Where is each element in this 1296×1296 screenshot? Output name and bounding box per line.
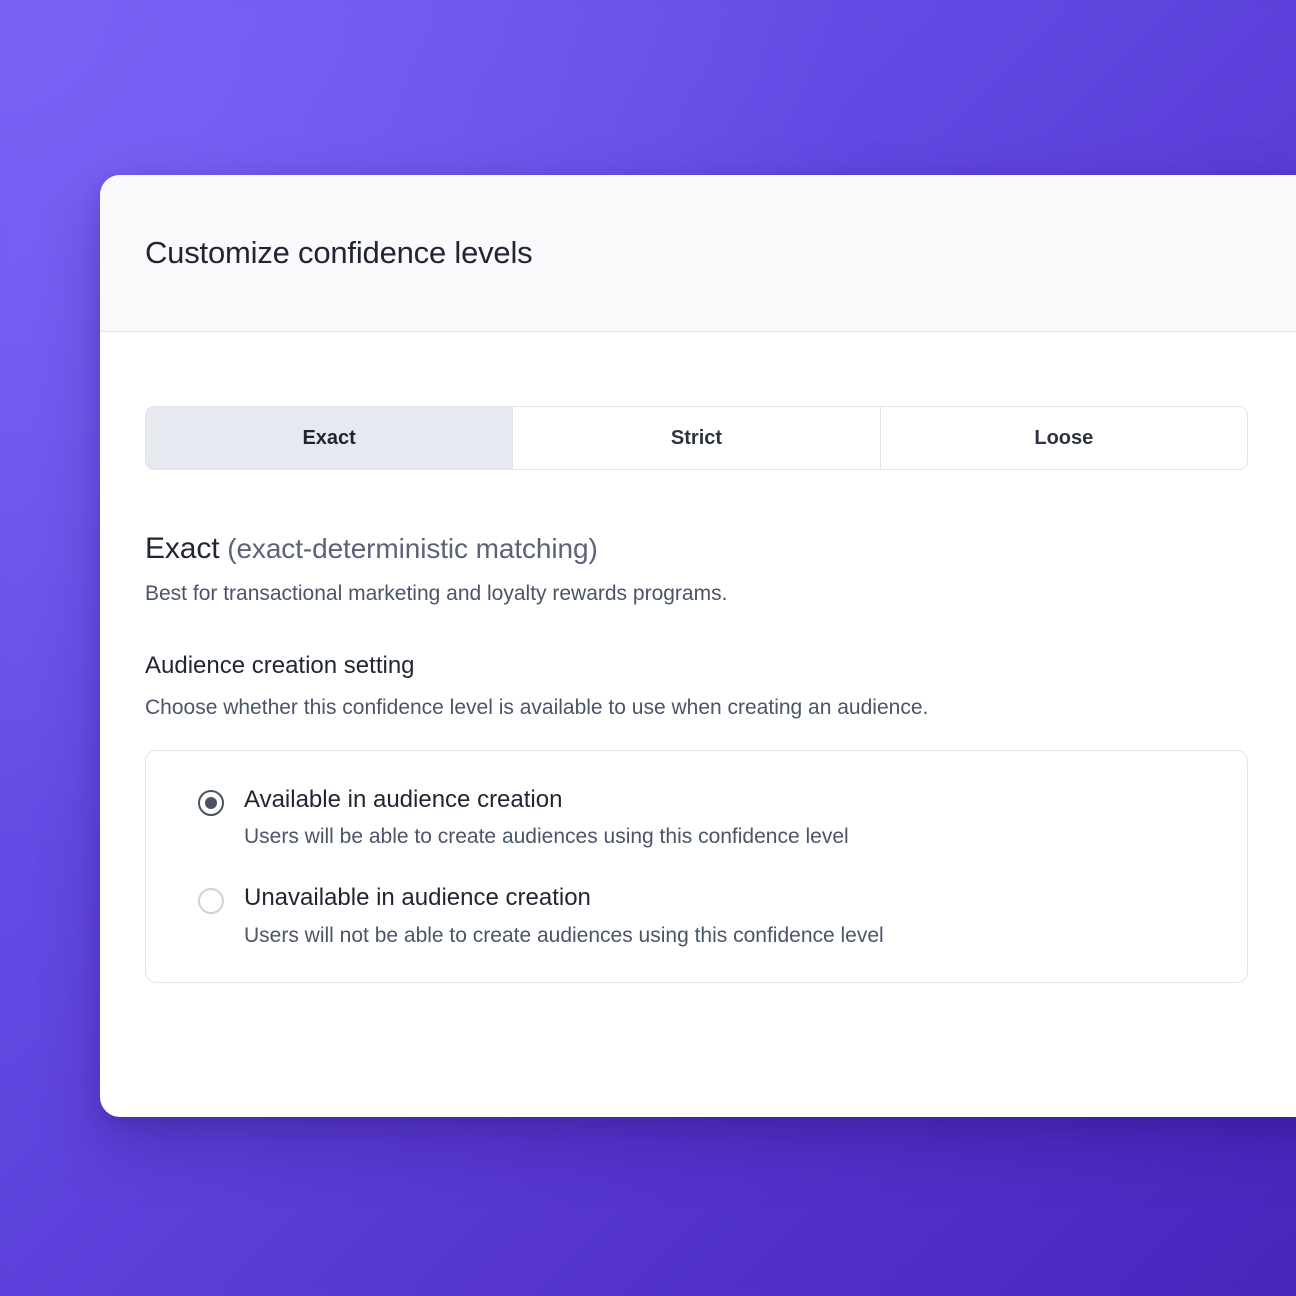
level-heading: Exact (exact-deterministic matching) <box>145 532 1295 566</box>
level-qualifier: (exact-deterministic matching) <box>227 533 597 564</box>
radio-option-unavailable-texts: Unavailable in audience creation Users w… <box>244 885 884 947</box>
level-description: Best for transactional marketing and loy… <box>145 582 1295 606</box>
tab-loose[interactable]: Loose <box>881 407 1247 469</box>
radio-option-available-sublabel: Users will be able to create audiences u… <box>244 825 849 849</box>
audience-creation-radio-group: Available in audience creation Users wil… <box>145 750 1248 983</box>
customize-confidence-levels-dialog: Customize confidence levels Exact Strict… <box>100 175 1296 1117</box>
dialog-body: Exact Strict Loose Exact (exact-determin… <box>100 406 1296 983</box>
radio-option-unavailable-label: Unavailable in audience creation <box>244 885 884 911</box>
tab-exact-label: Exact <box>302 427 355 450</box>
setting-title: Audience creation setting <box>145 652 1295 680</box>
dialog-header: Customize confidence levels <box>100 175 1296 332</box>
tab-exact[interactable]: Exact <box>146 407 513 469</box>
page-title: Customize confidence levels <box>145 235 532 271</box>
radio-option-available-label: Available in audience creation <box>244 787 849 813</box>
tab-strict[interactable]: Strict <box>513 407 880 469</box>
radio-option-available-texts: Available in audience creation Users wil… <box>244 787 849 849</box>
radio-option-unavailable-sublabel: Users will not be able to create audienc… <box>244 924 884 948</box>
radio-option-unavailable[interactable]: Unavailable in audience creation Users w… <box>146 885 1247 947</box>
radio-option-available[interactable]: Available in audience creation Users wil… <box>146 787 1247 849</box>
level-name: Exact <box>145 532 220 565</box>
level-summary: Exact (exact-deterministic matching) Bes… <box>145 532 1295 606</box>
audience-creation-setting: Audience creation setting Choose whether… <box>145 652 1295 983</box>
radio-unselected-icon[interactable] <box>198 888 224 914</box>
setting-description: Choose whether this confidence level is … <box>145 696 1295 720</box>
radio-selected-icon[interactable] <box>198 790 224 816</box>
tab-loose-label: Loose <box>1034 427 1093 450</box>
confidence-level-tabs: Exact Strict Loose <box>145 406 1248 470</box>
tab-strict-label: Strict <box>671 427 722 450</box>
